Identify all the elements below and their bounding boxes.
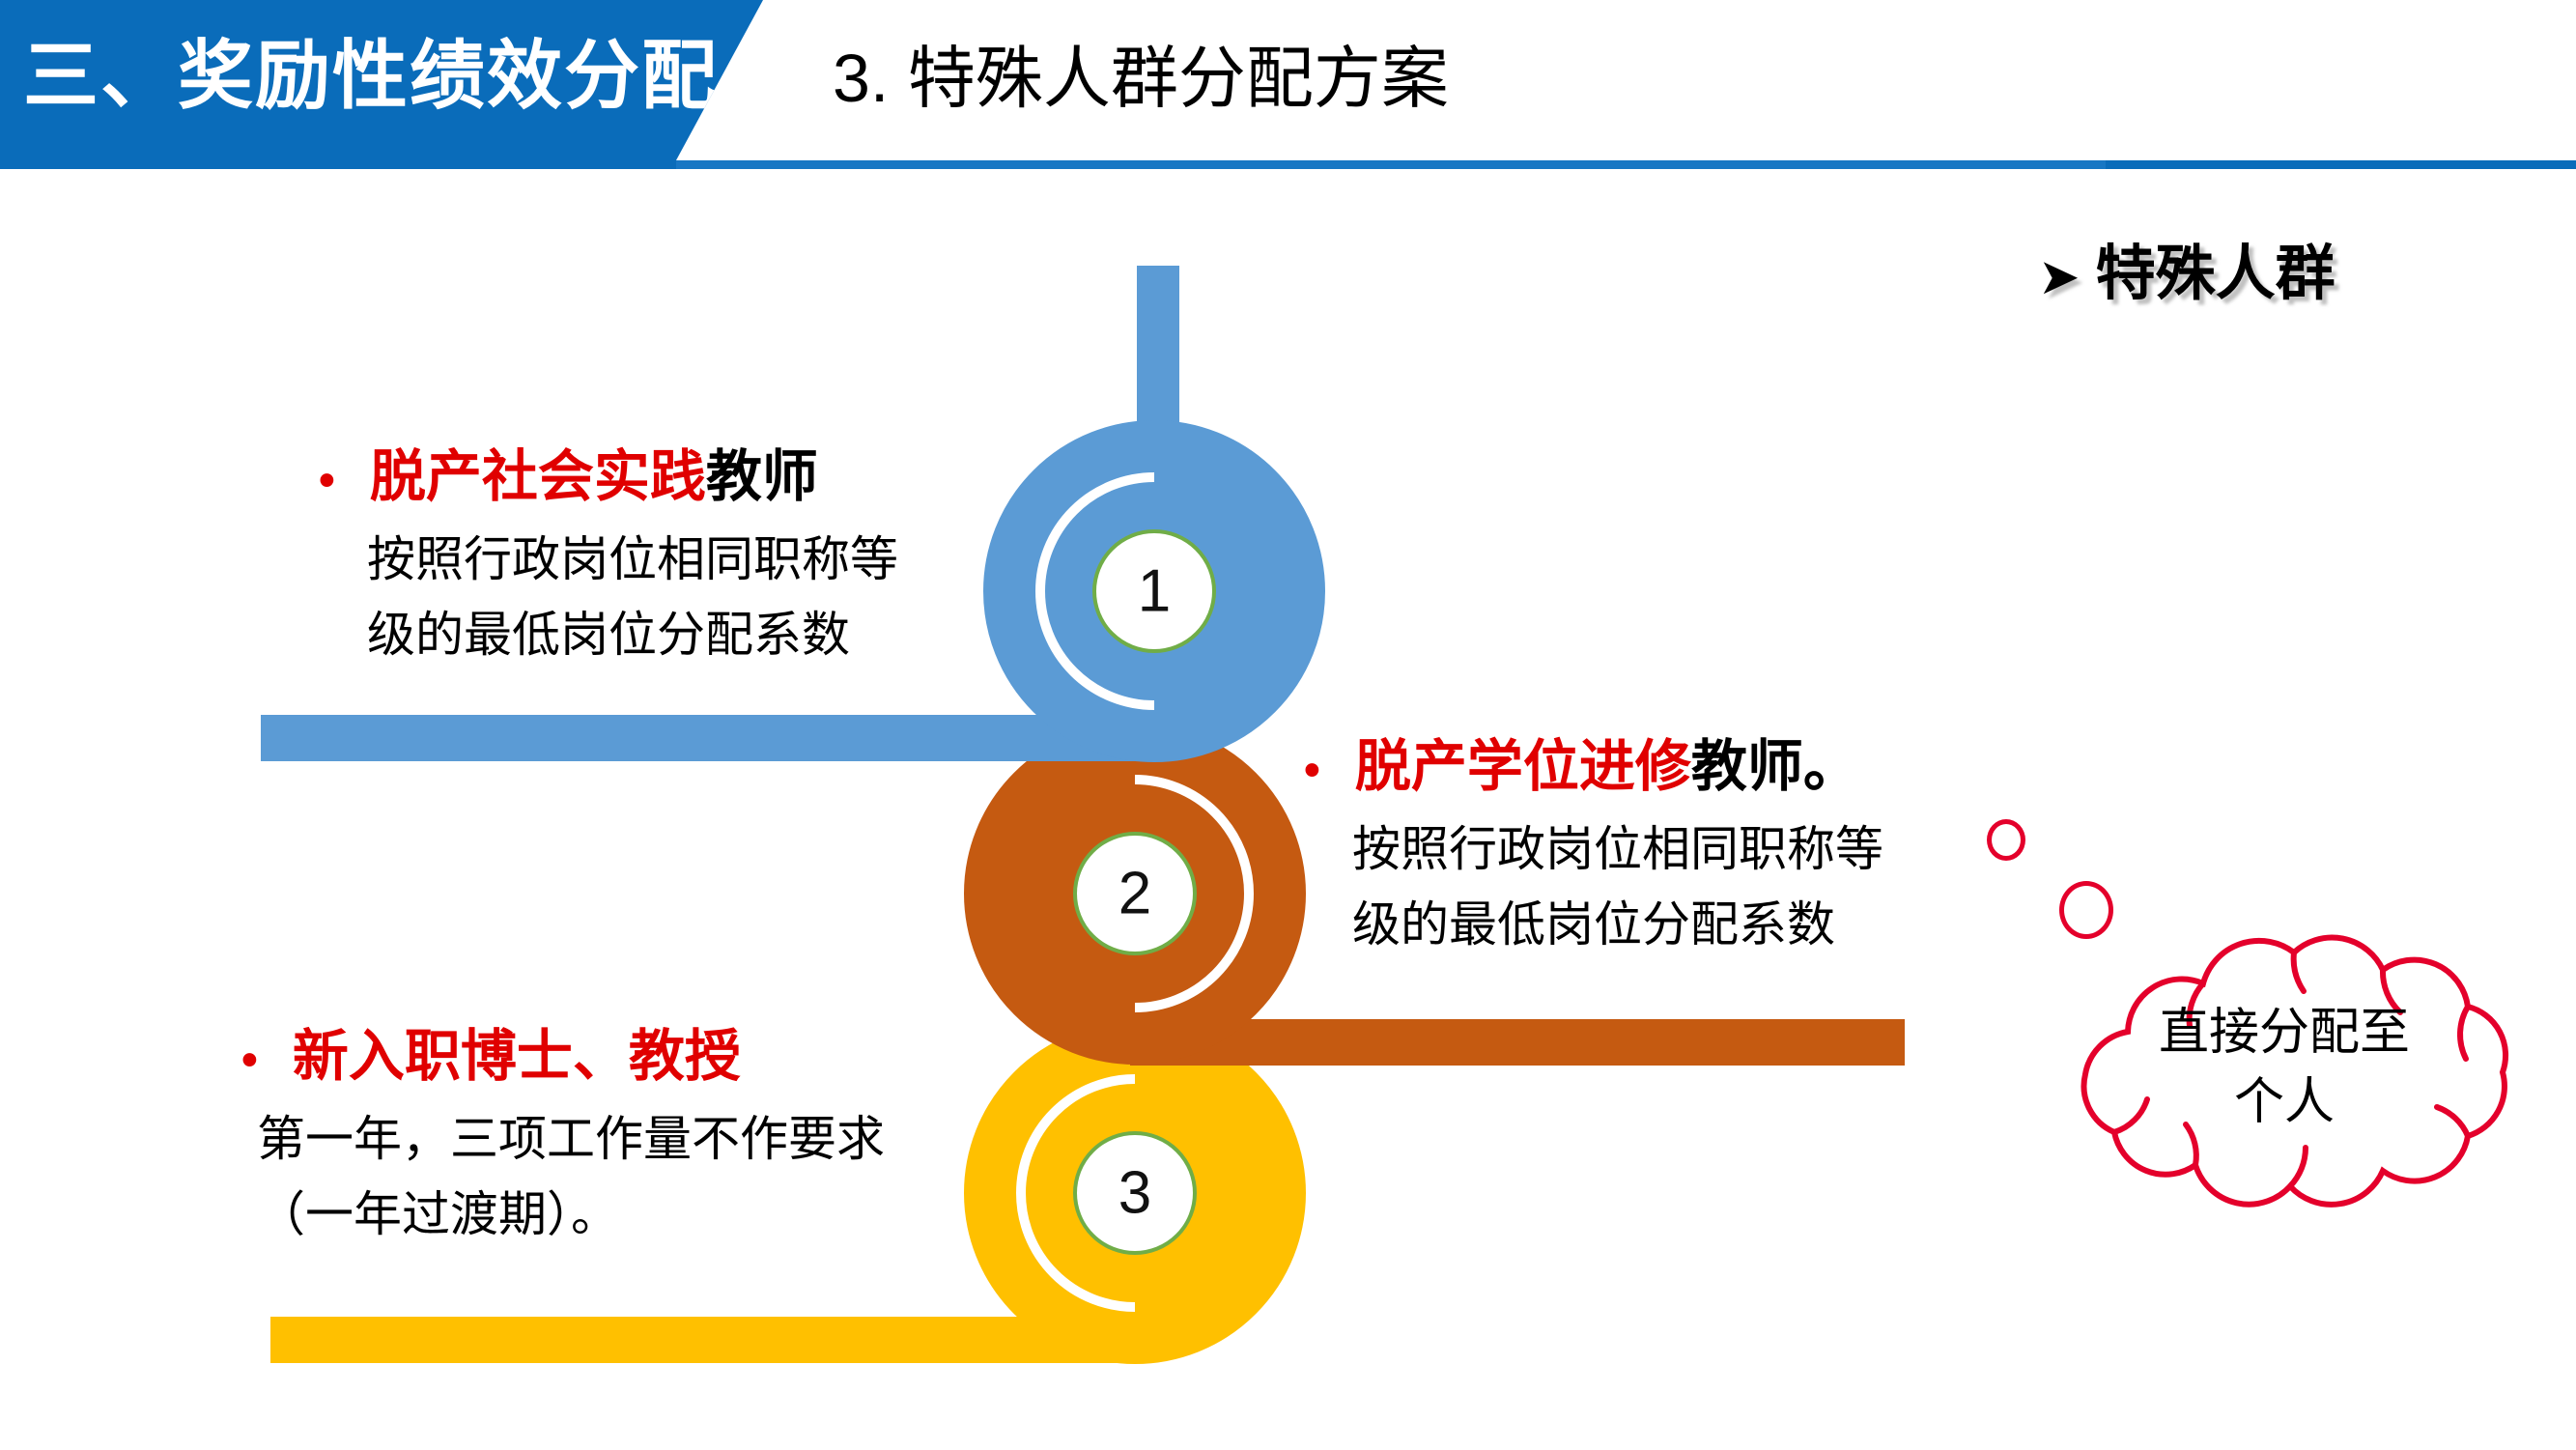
body-line-1-1: 按照行政岗位相同职称等	[367, 522, 898, 597]
bullet-title-1-highlight: 脱产社会实践	[370, 445, 706, 508]
text-block-1: •脱产社会实践教师 按照行政岗位相同职称等 级的最低岗位分配系数	[319, 437, 898, 672]
body-line-2-1: 按照行政岗位相同职称等	[1352, 811, 1883, 887]
cloud-outline-icon	[2014, 927, 2555, 1208]
body-line-3-2: （一年过渡期）。	[257, 1177, 885, 1252]
bullet-dot-icon: •	[1304, 745, 1320, 796]
spiral-step-3-number: 3	[1118, 1160, 1151, 1227]
bullet-title-2-rest: 教师。	[1691, 735, 1859, 798]
thought-bubble-small-icon	[1987, 819, 2025, 861]
text-block-2: •脱产学位进修教师。 按照行政岗位相同职称等 级的最低岗位分配系数	[1304, 726, 1883, 962]
spiral-step-1-number: 1	[1138, 558, 1171, 625]
spiral-step-2-number: 2	[1118, 861, 1151, 927]
body-line-2-2: 级的最低岗位分配系数	[1352, 887, 1883, 962]
body-line-3-1: 第一年，三项工作量不作要求	[257, 1101, 885, 1177]
slide-canvas: 三、奖励性绩效分配 3. 特殊人群分配方案 ➤特殊人群 3	[0, 0, 2576, 1450]
body-line-1-2: 级的最低岗位分配系数	[367, 597, 898, 672]
bullet-title-1: •脱产社会实践教师	[319, 437, 898, 522]
bullet-dot-icon: •	[241, 1035, 258, 1086]
text-block-3: •新入职博士、教授 第一年，三项工作量不作要求 （一年过渡期）。	[241, 1016, 885, 1252]
bullet-title-2: •脱产学位进修教师。	[1304, 726, 1883, 811]
bullet-title-2-highlight: 脱产学位进修	[1355, 735, 1691, 798]
bullet-title-1-rest: 教师	[706, 445, 818, 508]
cloud-callout: 直接分配至 个人	[2014, 927, 2555, 1208]
bullet-title-3: •新入职博士、教授	[241, 1016, 885, 1101]
bullet-title-3-highlight: 新入职博士、教授	[293, 1025, 741, 1088]
bullet-dot-icon: •	[319, 455, 335, 506]
